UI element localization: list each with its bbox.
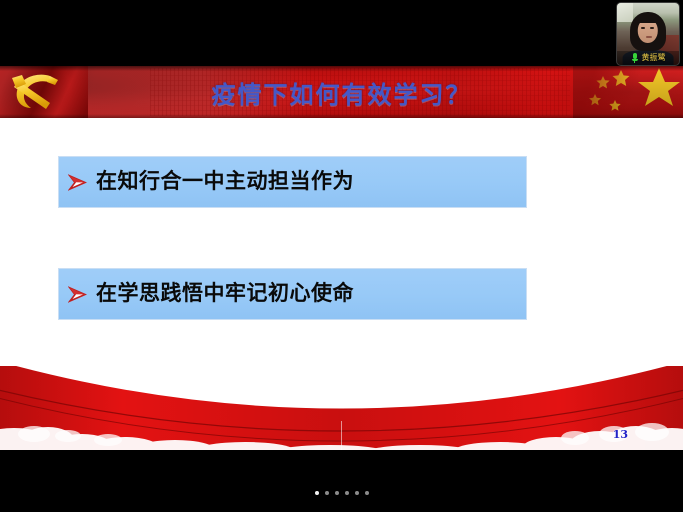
participant-name-label: 黄振鹭 — [642, 54, 666, 62]
page-dot-5[interactable] — [355, 491, 359, 495]
microphone-icon — [631, 53, 639, 63]
participant-name-bar: 黄振鹭 — [617, 51, 679, 65]
bullet-text-2: 在学思践悟中牢记初心使命 — [96, 283, 354, 305]
page-dot-3[interactable] — [335, 491, 339, 495]
bottom-letterbox-bar — [0, 450, 683, 512]
page-dot-6[interactable] — [365, 491, 369, 495]
bullet-text-1: 在知行合一中主动担当作为 — [96, 171, 354, 193]
page-indicator-dots[interactable] — [0, 491, 683, 495]
video-person-mouth — [646, 36, 652, 38]
video-person-eye-left — [641, 27, 645, 29]
top-letterbox-bar — [0, 0, 683, 66]
screen-share-view: 黄振鹭 — [0, 0, 683, 512]
slide-page-number: 13 — [613, 428, 628, 441]
participant-video-thumbnail[interactable]: 黄振鹭 — [617, 3, 679, 65]
slide-title-banner: 疫情下如何有效学习？ — [0, 66, 683, 118]
slide-title: 疫情下如何有效学习？ — [0, 66, 683, 118]
video-window-light — [617, 3, 633, 22]
bullet-box-1[interactable]: 在知行合一中主动担当作为 — [58, 156, 527, 208]
arrow-bullet-icon — [68, 173, 87, 192]
cloud-graphic — [0, 366, 683, 450]
video-person-fringe — [636, 15, 661, 23]
page-dot-4[interactable] — [345, 491, 349, 495]
page-dot-2[interactable] — [325, 491, 329, 495]
slide-bottom-decoration: 13 — [0, 366, 683, 450]
page-dot-1[interactable] — [315, 491, 319, 495]
arrow-bullet-icon — [68, 285, 87, 304]
slide-canvas: 疫情下如何有效学习？ 在知行合一中主动担当作为 在学思践悟中牢记初心使命 — [0, 66, 683, 450]
bullet-box-2[interactable]: 在学思践悟中牢记初心使命 — [58, 268, 527, 320]
video-person-eye-right — [650, 27, 654, 29]
